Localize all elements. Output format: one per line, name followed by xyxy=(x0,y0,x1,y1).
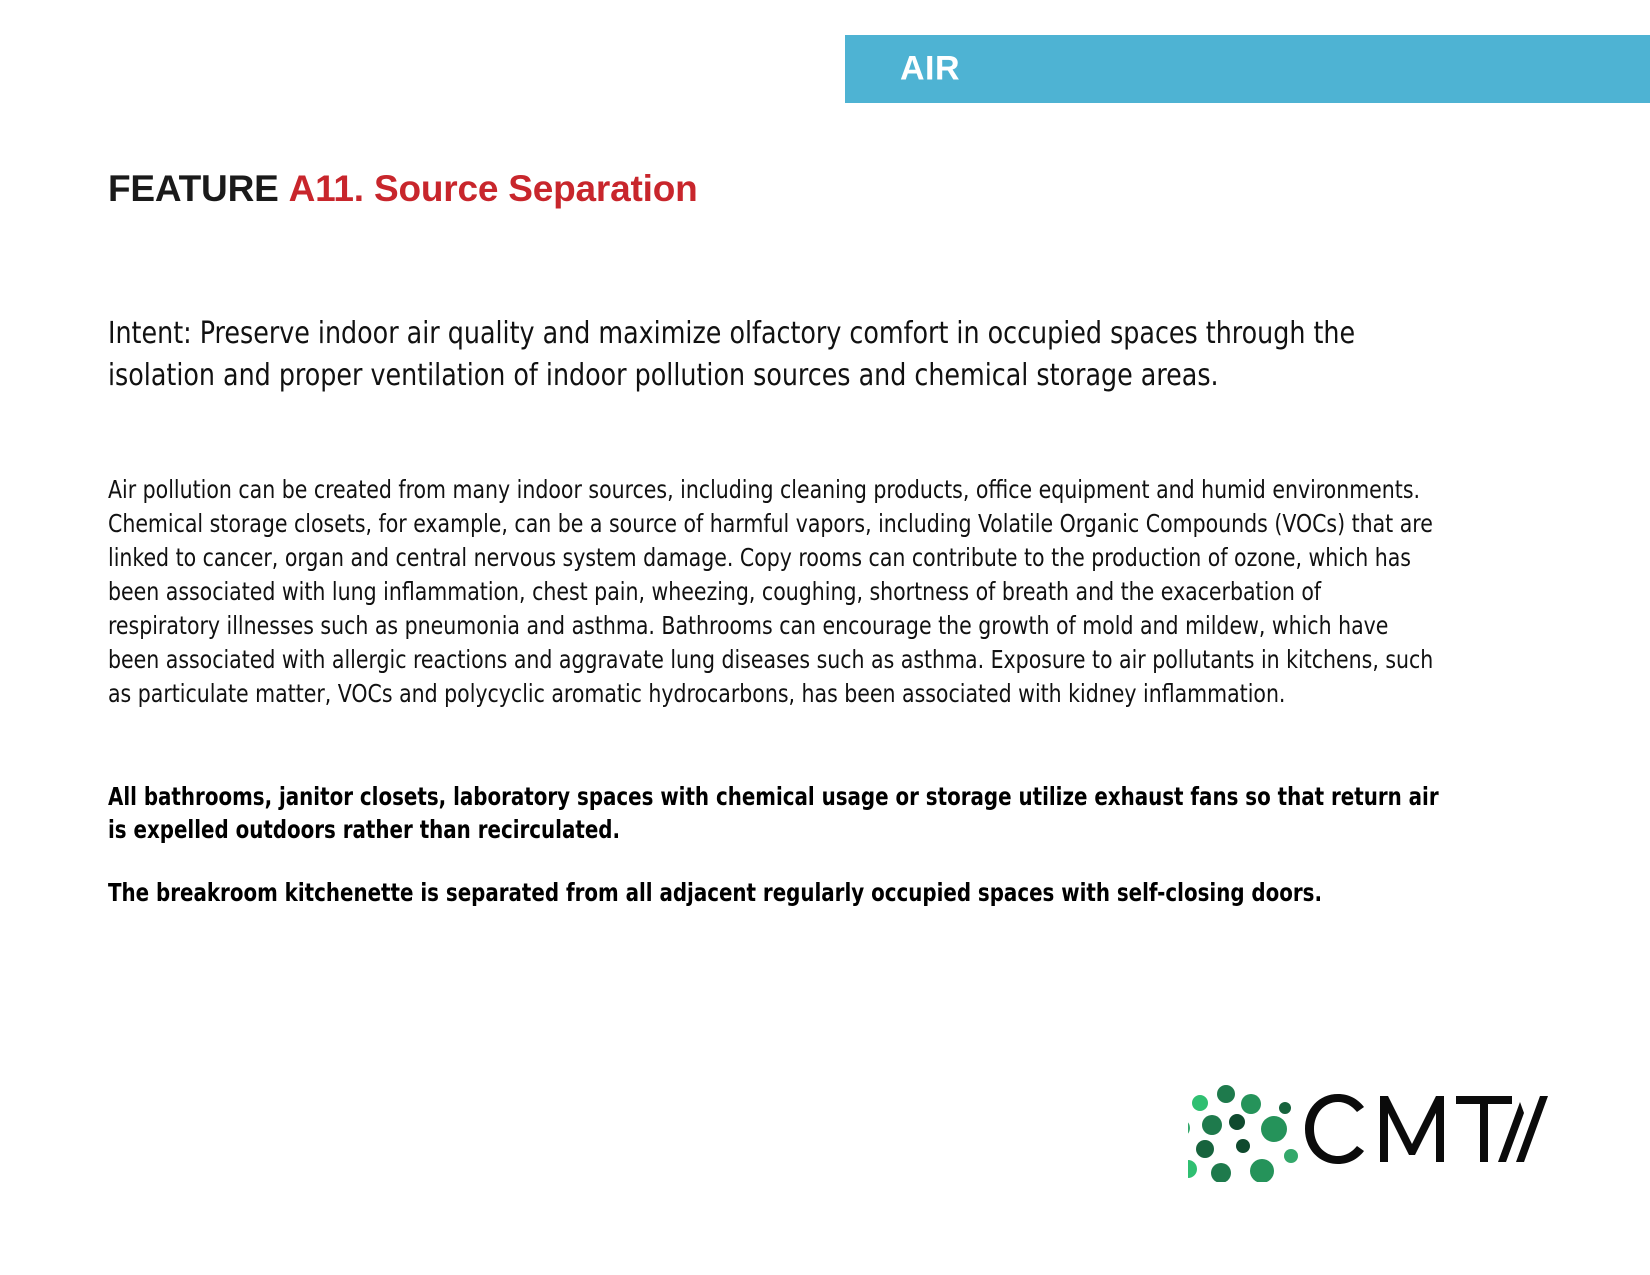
intent-text: Preserve indoor air quality and maximize… xyxy=(108,316,1355,393)
category-banner: AIR xyxy=(845,35,1650,103)
feature-label: FEATURE xyxy=(108,168,279,209)
logo-dot-cluster xyxy=(1188,1085,1298,1182)
cmta-logo-svg xyxy=(1188,1072,1548,1182)
body-paragraph: Air pollution can be created from many i… xyxy=(108,473,1438,711)
page-title: FEATUREA11. Source Separation xyxy=(108,169,698,210)
category-banner-label: AIR xyxy=(900,51,960,85)
intent-block: Intent: Preserve indoor air quality and … xyxy=(108,313,1386,397)
cmta-logo xyxy=(1188,1072,1548,1182)
intent-label: Intent: xyxy=(108,316,192,351)
logo-wordmark xyxy=(1305,1094,1548,1164)
requirement-statement-2: The breakroom kitchenette is separated f… xyxy=(108,876,1440,909)
requirement-statement-1: All bathrooms, janitor closets, laborato… xyxy=(108,780,1440,846)
feature-code-name: A11. Source Separation xyxy=(289,168,698,209)
